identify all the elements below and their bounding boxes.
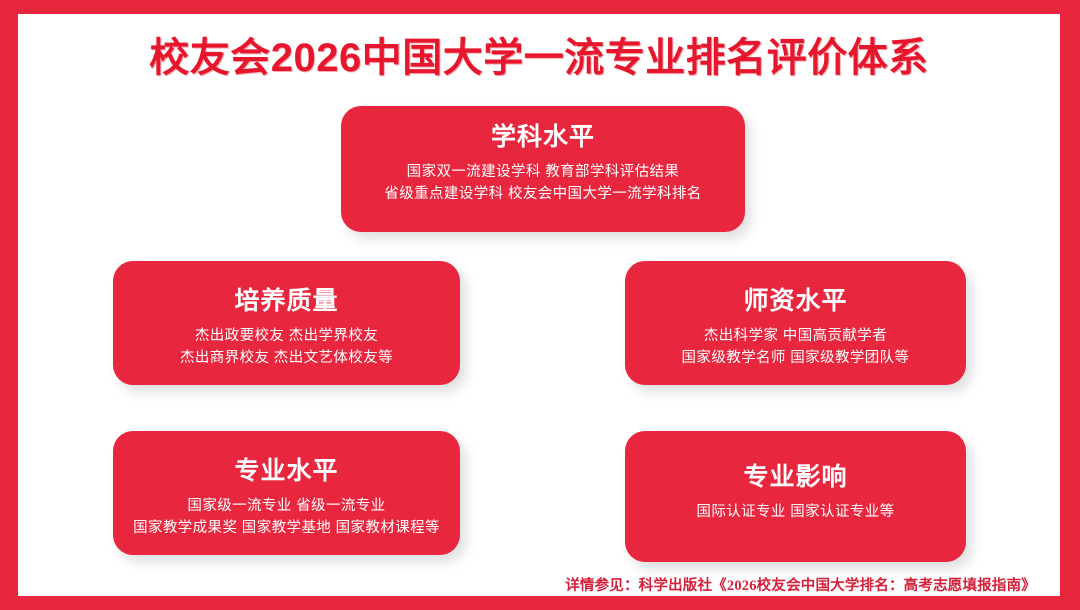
- card-detail-line: 国家双一流建设学科 教育部学科评估结果: [341, 161, 745, 183]
- criteria-card-major-level: 专业水平 国家级一流专业 省级一流专业 国家教学成果奖 国家教学基地 国家教材课…: [113, 431, 460, 555]
- content-area: 校友会2026中国大学一流专业排名评价体系 学科水平 国家双一流建设学科 教育部…: [18, 14, 1060, 596]
- card-title: 专业水平: [113, 457, 460, 486]
- card-detail-lines: 杰出科学家 中国高贡献学者 国家级教学名师 国家级教学团队等: [625, 325, 966, 370]
- criteria-card-discipline-level: 学科水平 国家双一流建设学科 教育部学科评估结果 省级重点建设学科 校友会中国大…: [341, 106, 745, 232]
- card-detail-line: 杰出科学家 中国高贡献学者: [625, 325, 966, 347]
- card-detail-line: 杰出政要校友 杰出学界校友: [113, 325, 460, 347]
- card-detail-line: 杰出商界校友 杰出文艺体校友等: [113, 347, 460, 369]
- card-detail-line: 国家级一流专业 省级一流专业: [113, 495, 460, 517]
- infographic-page: 校友会2026中国大学一流专业排名评价体系 学科水平 国家双一流建设学科 教育部…: [0, 0, 1080, 610]
- criteria-card-training-quality: 培养质量 杰出政要校友 杰出学界校友 杰出商界校友 杰出文艺体校友等: [113, 261, 460, 385]
- card-detail-line: 国家级教学名师 国家级教学团队等: [625, 347, 966, 369]
- card-detail-lines: 杰出政要校友 杰出学界校友 杰出商界校友 杰出文艺体校友等: [113, 325, 460, 370]
- card-detail-lines: 国家级一流专业 省级一流专业 国家教学成果奖 国家教学基地 国家教材课程等: [113, 495, 460, 540]
- card-detail-line: 省级重点建设学科 校友会中国大学一流学科排名: [341, 183, 745, 205]
- criteria-card-faculty-level: 师资水平 杰出科学家 中国高贡献学者 国家级教学名师 国家级教学团队等: [625, 261, 966, 385]
- card-detail-line: 国际认证专业 国家认证专业等: [625, 501, 966, 523]
- criteria-card-major-influence: 专业影响 国际认证专业 国家认证专业等: [625, 431, 966, 562]
- frame-band-right: [1060, 0, 1080, 610]
- page-title: 校友会2026中国大学一流专业排名评价体系: [18, 36, 1060, 80]
- card-detail-lines: 国家双一流建设学科 教育部学科评估结果 省级重点建设学科 校友会中国大学一流学科…: [341, 161, 745, 206]
- card-title: 学科水平: [341, 123, 745, 152]
- source-footnote: 详情参见：科学出版社《2026校友会中国大学排名：高考志愿填报指南》: [565, 574, 1036, 595]
- card-title: 师资水平: [625, 287, 966, 316]
- card-title: 培养质量: [113, 287, 460, 316]
- card-title: 专业影响: [625, 463, 966, 492]
- frame-band-left: [0, 0, 18, 610]
- frame-band-top: [0, 0, 1080, 14]
- card-detail-line: 国家教学成果奖 国家教学基地 国家教材课程等: [113, 517, 460, 539]
- frame-band-bottom: [0, 596, 1080, 610]
- card-detail-lines: 国际认证专业 国家认证专业等: [625, 501, 966, 523]
